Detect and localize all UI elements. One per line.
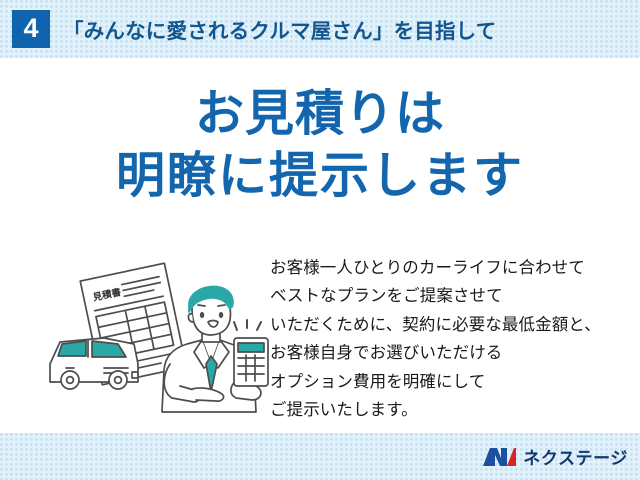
- body-line: お客様一人ひとりのカーライフに合わせて: [270, 254, 635, 282]
- headline-line-1: お見積りは: [0, 84, 640, 146]
- header-band: 4 「みんなに愛されるクルマ屋さん」を目指して: [0, 0, 640, 58]
- main-content: お見積りは 明瞭に提示します お客様一人ひとりのカーライフに合わせて ベストなプ…: [0, 58, 640, 433]
- body-line: お客様自身でお選びいただける: [270, 339, 635, 367]
- section-number-badge: 4: [12, 10, 50, 48]
- body-line: ベストなプランをご提案させて: [270, 282, 635, 310]
- salesman-quote-car-illustration: 見積書: [42, 252, 274, 420]
- body-line: オプション費用を明確にして: [270, 368, 635, 396]
- footer-band: ネクステージ: [0, 433, 640, 480]
- brand-logo-text: ネクステージ: [523, 444, 628, 469]
- headline-line-2: 明瞭に提示します: [0, 146, 640, 208]
- nextage-n-logo-icon: [482, 446, 516, 468]
- body-copy: お客様一人ひとりのカーライフに合わせて ベストなプランをご提案させて いただくた…: [270, 254, 635, 424]
- header-inner: 4 「みんなに愛されるクルマ屋さん」を目指して: [0, 0, 640, 58]
- header-title: 「みんなに愛されるクルマ屋さん」を目指して: [63, 14, 496, 44]
- headline: お見積りは 明瞭に提示します: [0, 84, 640, 207]
- body-line: ご提示いたします。: [270, 396, 635, 424]
- sparkle-icon: [234, 320, 261, 330]
- calculator-illustration: [234, 338, 268, 386]
- illustration: 見積書: [42, 252, 274, 420]
- promo-slide: 4 「みんなに愛されるクルマ屋さん」を目指して お見積りは 明瞭に提示します お…: [0, 0, 640, 480]
- brand-logo: ネクステージ: [482, 433, 628, 480]
- body-line: いただくために、契約に必要な最低金額と、: [270, 311, 635, 339]
- van-illustration: [50, 338, 138, 389]
